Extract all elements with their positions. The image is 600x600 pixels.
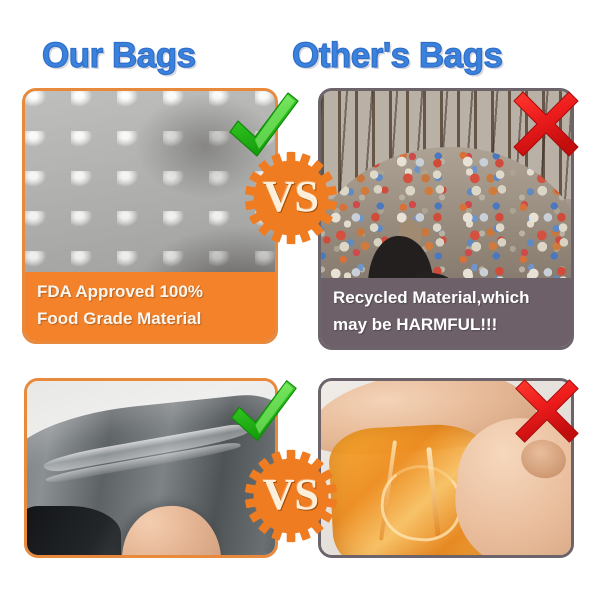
vs-label: VS bbox=[243, 473, 339, 517]
heading-others-bags: Other's Bags bbox=[292, 38, 502, 73]
red-cross-icon bbox=[510, 88, 582, 160]
caption-other-material: Recycled Material,which may be HARMFUL!!… bbox=[321, 278, 571, 347]
caption-line-2: Food Grade Material bbox=[37, 306, 263, 332]
red-cross-icon bbox=[512, 376, 582, 446]
caption-our-material: FDA Approved 100% Food Grade Material bbox=[25, 272, 275, 341]
vs-gear-badge-top: VS bbox=[243, 150, 339, 246]
infographic-canvas: Our Bags Other's Bags FDA Approved 100% … bbox=[0, 0, 600, 600]
caption-line-1: Recycled Material,which bbox=[333, 285, 559, 311]
caption-line-1: FDA Approved 100% bbox=[37, 279, 263, 305]
vs-label: VS bbox=[243, 175, 339, 219]
green-check-icon bbox=[226, 376, 300, 448]
caption-line-2: may be HARMFUL!!! bbox=[333, 312, 559, 338]
heading-our-bags: Our Bags bbox=[42, 38, 196, 73]
vs-gear-badge-bottom: VS bbox=[243, 448, 339, 544]
